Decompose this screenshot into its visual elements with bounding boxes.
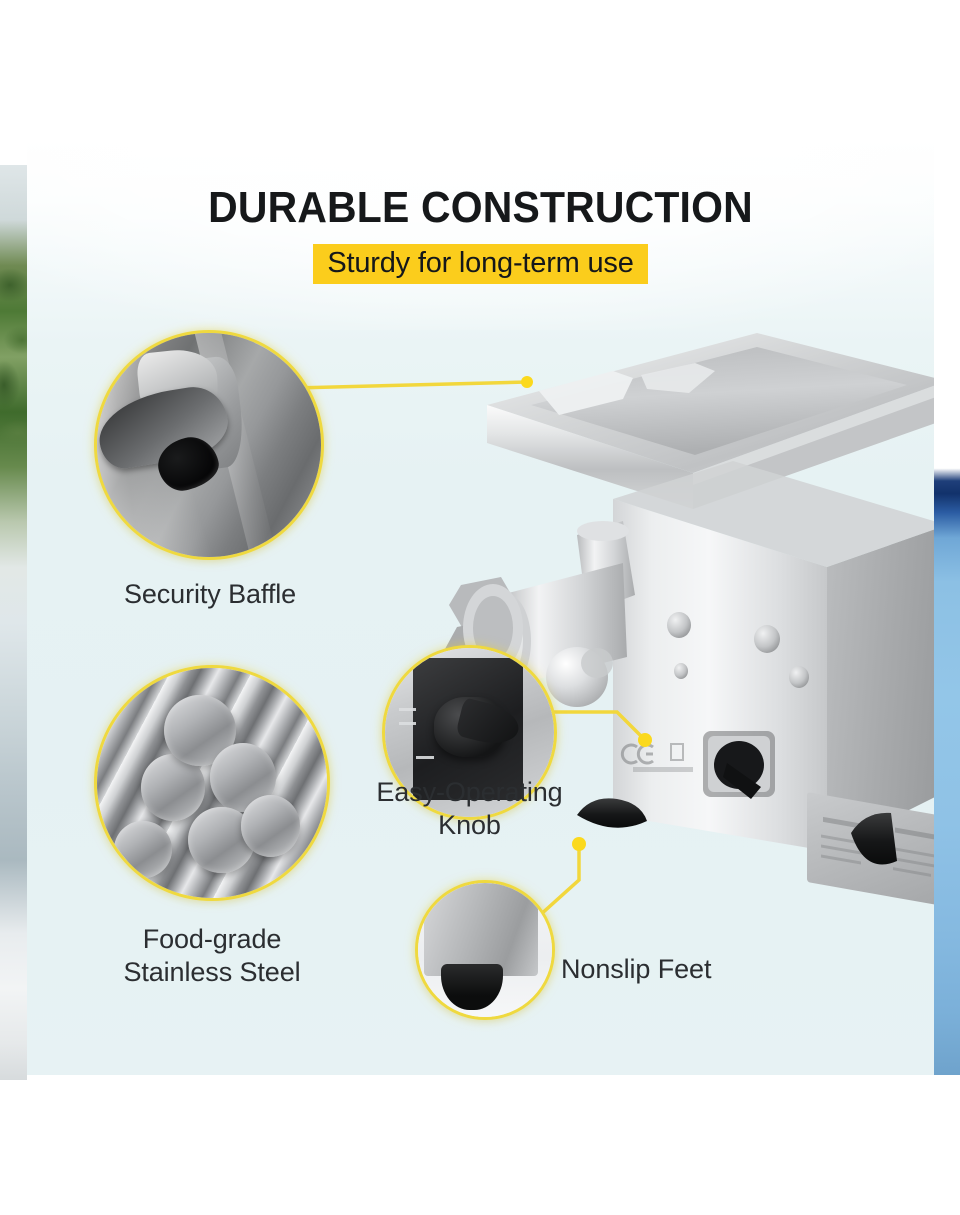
baffle-closeup-photo [94,330,324,560]
left-neighbor-image-strip [0,165,27,1080]
meat-grinder-illustration [427,295,934,945]
callout-image-security-baffle [94,330,324,560]
page-title: DURABLE CONSTRUCTION [59,183,903,233]
callout-label-nonslip-feet: Nonslip Feet [561,953,781,986]
callout-label-stainless-steel: Food-grade Stainless Steel [82,923,342,989]
callout-label-security-baffle: Security Baffle [90,578,330,611]
subtitle-container: Sturdy for long-term use [27,244,934,284]
callout-image-stainless-steel [94,665,330,901]
feature-infographic-panel: DURABLE CONSTRUCTION Sturdy for long-ter… [27,0,934,1075]
subtitle-highlight: Sturdy for long-term use [313,244,647,284]
right-neighbor-image-strip [934,443,960,1075]
steel-rods-closeup-photo [94,665,330,901]
callout-image-nonslip-feet [415,880,555,1020]
callout-label-easy-operating-knob: Easy-Operating Knob [347,776,592,842]
rubber-foot-closeup-photo [415,880,555,1020]
screenshot-root: DURABLE CONSTRUCTION Sturdy for long-ter… [0,0,960,1215]
